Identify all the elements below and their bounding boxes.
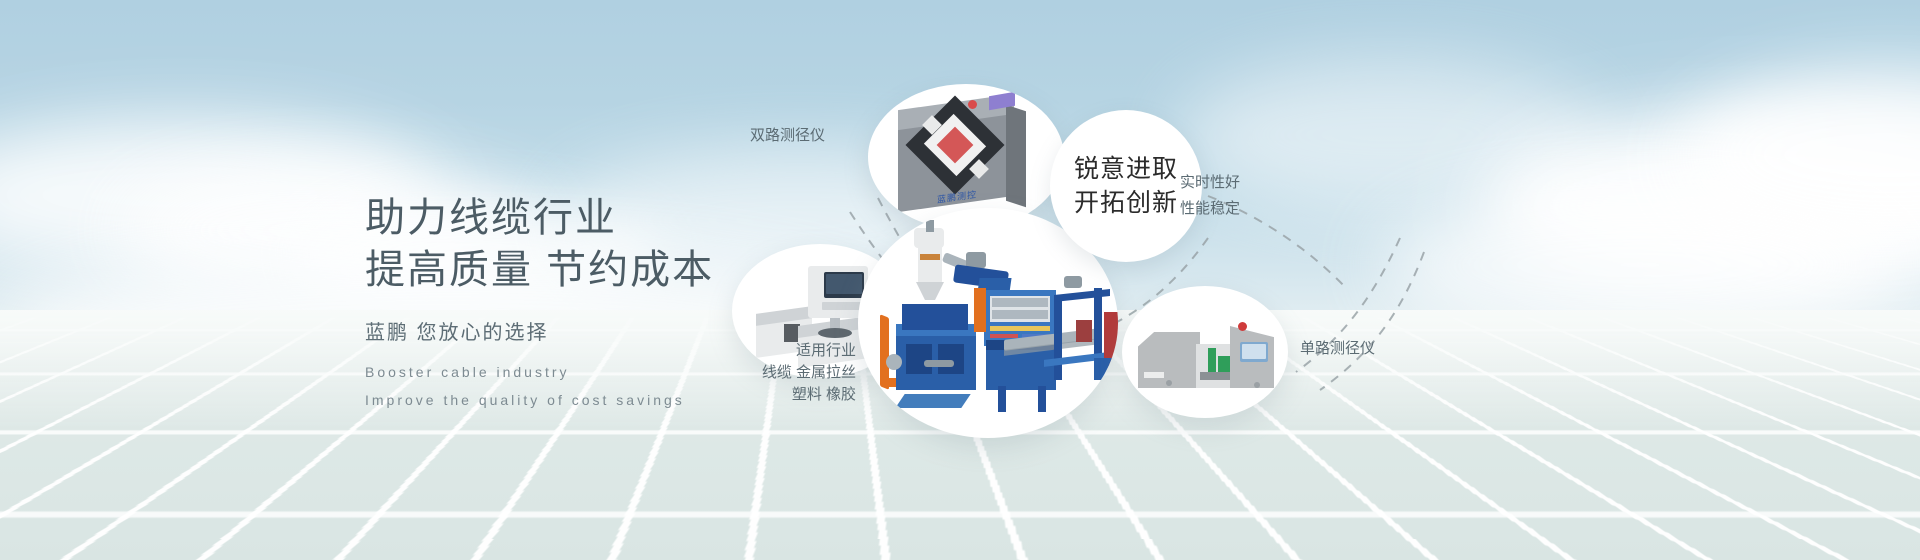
label-features-line-1: 实时性好 (1180, 170, 1240, 196)
callout-line-1: 锐意进取 (1074, 152, 1178, 186)
product-composition: 蓝鹏测控 双路测径仪 适用行业 线缆 金属拉丝 塑料 橡胶 (700, 0, 1920, 560)
headline-line-1: 助力线缆行业 (365, 192, 714, 244)
label-industries-line-2: 塑料 橡胶 (680, 384, 856, 406)
label-industries-line-1: 线缆 金属拉丝 (680, 362, 856, 384)
label-dual-gauge: 双路测径仪 (665, 125, 825, 147)
banner-root: 助力线缆行业 提高质量 节约成本 蓝鹏 您放心的选择 Booster cable… (0, 0, 1920, 560)
english-tagline-1: Booster cable industry (365, 359, 714, 385)
bubble-single-gauge[interactable] (1122, 286, 1288, 418)
callout-line-2: 开拓创新 (1074, 186, 1178, 220)
label-industries: 适用行业 线缆 金属拉丝 塑料 橡胶 (680, 340, 856, 406)
subtitle: 蓝鹏 您放心的选择 (365, 316, 714, 345)
headline-line-2: 提高质量 节约成本 (365, 244, 714, 296)
english-tagline-2: Improve the quality of cost savings (365, 387, 714, 413)
label-industries-title: 适用行业 (680, 340, 856, 362)
headline-block: 助力线缆行业 提高质量 节约成本 蓝鹏 您放心的选择 Booster cable… (365, 192, 714, 413)
label-features: 实时性好 性能稳定 (1180, 170, 1240, 222)
label-features-line-2: 性能稳定 (1180, 196, 1240, 222)
label-single-gauge: 单路测径仪 (1300, 338, 1375, 360)
single-gauge-device-image (1122, 286, 1288, 418)
